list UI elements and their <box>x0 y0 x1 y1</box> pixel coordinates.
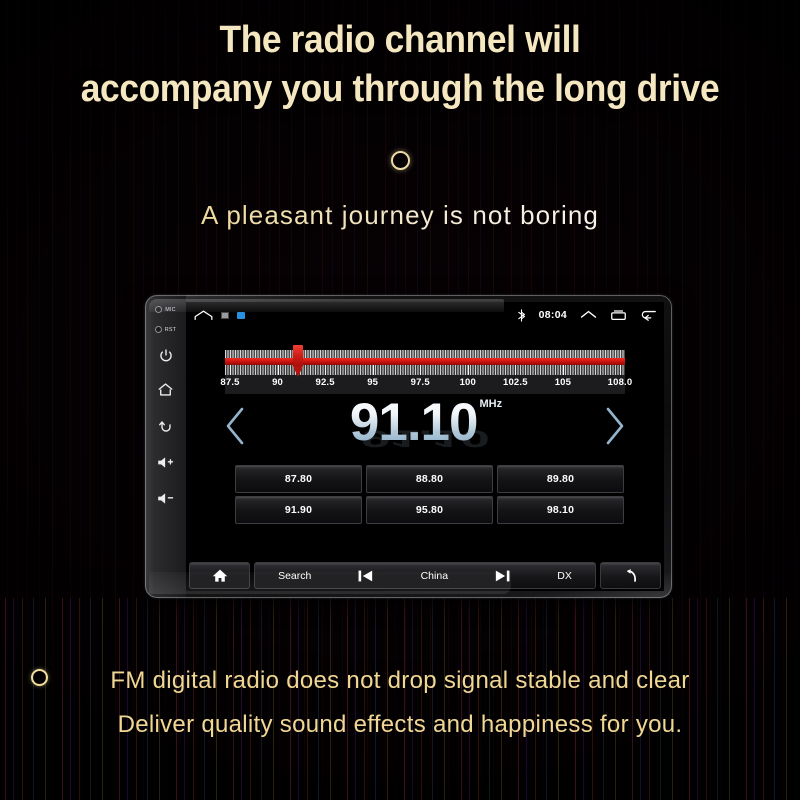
dial-label: 92.5 <box>315 377 334 388</box>
status-clock: 08:04 <box>539 309 567 321</box>
power-icon <box>158 348 174 364</box>
preset-button[interactable]: 95.80 <box>366 496 493 524</box>
preset-button[interactable]: 88.80 <box>366 465 493 493</box>
headline-line-1: The radio channel will <box>28 16 772 65</box>
home-hardware-button[interactable] <box>145 382 186 397</box>
bezel-mic-indicator: MIC <box>145 306 186 313</box>
screenshot-icon[interactable] <box>221 312 229 319</box>
dial-label: 97.5 <box>411 377 430 388</box>
device-left-bezel: MIC RST <box>145 295 186 598</box>
android-status-bar: 08:04 <box>186 302 664 328</box>
preset-button[interactable]: 87.80 <box>235 465 362 493</box>
bluetooth-icon <box>517 309 526 322</box>
toolbar-dx-button[interactable]: DX <box>557 570 572 582</box>
preset-grid: 87.8088.8089.8091.9095.8098.10 <box>235 465 624 524</box>
toolbar-center-group: Search China DX <box>254 562 596 589</box>
return-icon <box>623 568 639 583</box>
dial-major-ticks <box>225 365 625 375</box>
dial-label: 87.5 <box>220 377 239 388</box>
home-icon <box>157 382 174 397</box>
bottom-line-1: FM digital radio does not drop signal st… <box>0 659 800 703</box>
mic-dot-icon <box>155 306 162 313</box>
power-button[interactable] <box>145 348 186 364</box>
preset-button[interactable]: 89.80 <box>497 465 624 493</box>
home-outline-icon[interactable] <box>194 310 213 321</box>
volume-down-button[interactable] <box>145 491 186 506</box>
frequency-value-wrap: 91.10MHz <box>186 394 664 452</box>
promo-banner: The radio channel will accompany you thr… <box>0 0 800 800</box>
promo-bullets: FM digital radio does not drop signal st… <box>0 659 800 747</box>
dial-ticks-top <box>225 350 625 358</box>
car-head-unit: MIC RST <box>145 295 672 598</box>
dial-label: 90 <box>272 377 283 388</box>
toolbar-return-button[interactable] <box>600 562 661 589</box>
frequency-display-row: 91.10MHz 91.10 <box>186 394 664 460</box>
dial-label: 108.0 <box>608 377 633 388</box>
back-icon[interactable] <box>640 309 657 321</box>
frequency-value: 91.10 <box>350 394 478 452</box>
volume-up-button[interactable] <box>145 455 186 470</box>
back-hardware-button[interactable] <box>145 419 186 435</box>
dial-band-highlight <box>225 358 625 365</box>
chevron-right-icon <box>600 406 628 446</box>
dial-label: 105 <box>555 377 571 388</box>
dial-needle[interactable] <box>293 345 303 379</box>
frequency-unit: MHz <box>480 398 503 410</box>
reset-dot-icon <box>155 326 162 333</box>
dial-label: 102.5 <box>503 377 528 388</box>
preset-button[interactable]: 91.90 <box>235 496 362 524</box>
toolbar-prev-track-button[interactable] <box>357 569 374 583</box>
bezel-mic-label: MIC <box>165 307 175 313</box>
dial-label: 100 <box>460 377 476 388</box>
headline-line-2: accompany you through the long drive <box>28 65 772 114</box>
chevron-up-icon[interactable] <box>580 310 597 321</box>
volume-down-icon <box>156 491 175 506</box>
toolbar-search-button[interactable]: Search <box>278 570 311 582</box>
bezel-rst-label: RST <box>165 327 176 333</box>
next-track-icon <box>494 569 511 583</box>
app-icon[interactable] <box>237 312 245 319</box>
decorative-ring-icon <box>391 151 410 170</box>
promo-headline: The radio channel will accompany you thr… <box>28 16 772 114</box>
bottom-line-2: Deliver quality sound effects and happin… <box>0 703 800 747</box>
radio-toolbar: Search China DX <box>186 560 664 591</box>
toolbar-next-track-button[interactable] <box>494 569 511 583</box>
prev-track-icon <box>357 569 374 583</box>
recent-apps-icon[interactable] <box>610 309 627 321</box>
next-station-button[interactable] <box>600 406 628 451</box>
toolbar-region-label[interactable]: China <box>421 570 448 582</box>
back-arrow-icon <box>158 419 174 435</box>
device-screen: 08:04 <box>186 302 664 591</box>
volume-up-icon <box>156 455 175 470</box>
dial-scale-labels: 87.59092.59597.5100102.5105108.0 <box>225 376 625 394</box>
preset-button[interactable]: 98.10 <box>497 496 624 524</box>
home-icon <box>212 568 228 583</box>
dial-label: 95 <box>367 377 378 388</box>
toolbar-home-button[interactable] <box>189 562 250 589</box>
tuner-dial[interactable]: 87.59092.59597.5100102.5105108.0 <box>225 350 625 394</box>
promo-subtitle: A pleasant journey is not boring <box>0 200 800 231</box>
bezel-reset-button[interactable]: RST <box>145 326 186 333</box>
